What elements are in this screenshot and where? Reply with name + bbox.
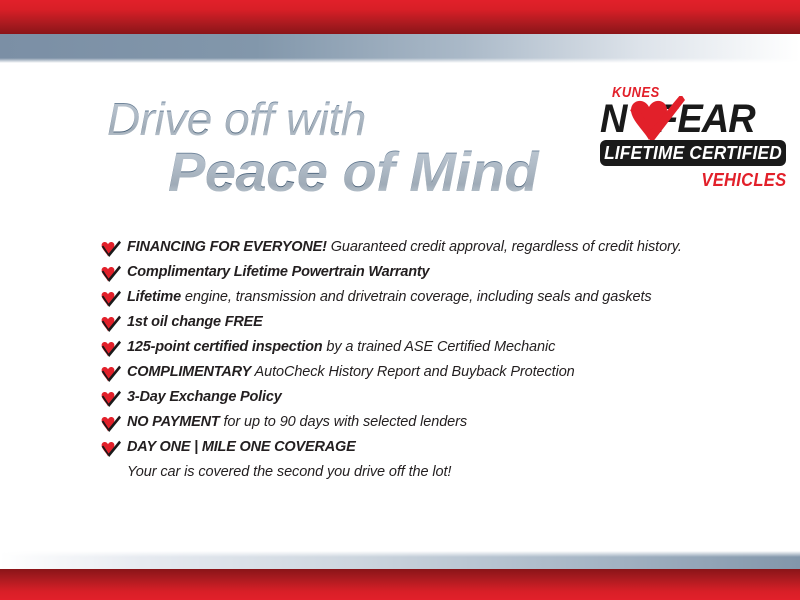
benefit-normal-text: by a trained ASE Certified Mechanic: [322, 339, 555, 355]
benefit-strong-text: 3-Day Exchange Policy: [127, 389, 282, 405]
red-heart-check-icon: [100, 265, 121, 282]
red-heart-check-icon: [100, 315, 121, 332]
benefit-item: 125-point certified inspection by a trai…: [100, 339, 740, 356]
benefit-item: COMPLIMENTARY AutoCheck History Report a…: [100, 364, 740, 381]
benefit-normal-text: for up to 90 days with selected lenders: [220, 414, 467, 430]
headline-line-1: Drive off with: [104, 96, 574, 142]
headline-line-2: Peace of Mind: [104, 144, 574, 200]
kunes-no-fear-logo: KUNES NOFEAR LIFETIME CERTIFIED VEHICLES: [596, 84, 788, 190]
logo-badge-label: LIFETIME CERTIFIED: [604, 140, 783, 166]
benefit-item: Lifetime engine, transmission and drivet…: [100, 289, 740, 306]
red-heart-check-icon: [100, 440, 121, 457]
benefit-item: DAY ONE | MILE ONE COVERAGE: [100, 439, 740, 456]
benefit-item: NO PAYMENT for up to 90 days with select…: [100, 414, 740, 431]
benefit-item: 1st oil change FREE: [100, 314, 740, 331]
red-heart-check-icon: [100, 415, 121, 432]
logo-wordmark-n: N: [600, 97, 626, 141]
top-red-bar: [0, 0, 800, 34]
benefit-item: FINANCING FOR EVERYONE! Guaranteed credi…: [100, 239, 740, 256]
benefit-subtext: Your car is covered the second you drive…: [100, 464, 740, 481]
benefit-normal-text: Guaranteed credit approval, regardless o…: [327, 239, 682, 255]
logo-vehicles-label: VEHICLES: [701, 170, 786, 191]
red-heart-check-icon: [100, 390, 121, 407]
logo-lifetime-certified-badge: LIFETIME CERTIFIED: [600, 140, 786, 166]
bottom-gray-bar: [0, 551, 800, 569]
red-heart-check-icon: [100, 340, 121, 357]
red-heart-check-icon: [100, 240, 121, 257]
red-heart-check-icon: [100, 365, 121, 382]
benefit-strong-text: 1st oil change FREE: [127, 314, 263, 330]
red-heart-check-icon: [100, 290, 121, 307]
benefits-list: FINANCING FOR EVERYONE! Guaranteed credi…: [100, 239, 740, 481]
headline-block: Drive off with Peace of Mind: [104, 96, 574, 200]
benefit-strong-text: FINANCING FOR EVERYONE!: [127, 239, 327, 255]
benefit-normal-text: engine, transmission and drivetrain cove…: [181, 289, 652, 305]
benefit-normal-text: AutoCheck History Report and Buyback Pro…: [251, 364, 575, 380]
benefit-item: 3-Day Exchange Policy: [100, 389, 740, 406]
red-checkmark-icon: [627, 96, 685, 146]
benefit-strong-text: COMPLIMENTARY: [127, 364, 251, 380]
benefit-strong-text: 125-point certified inspection: [127, 339, 322, 355]
promo-banner: Drive off with Peace of Mind KUNES NOFEA…: [0, 0, 800, 600]
bottom-red-bar: [0, 569, 800, 600]
benefit-strong-text: Lifetime: [127, 289, 181, 305]
logo-wordmark-no-fear: NOFEAR: [600, 98, 788, 140]
benefit-item: Complimentary Lifetime Powertrain Warran…: [100, 264, 740, 281]
benefit-strong-text: NO PAYMENT: [127, 414, 220, 430]
benefit-strong-text: DAY ONE | MILE ONE COVERAGE: [127, 439, 356, 455]
top-gray-bar: [0, 34, 800, 63]
benefit-strong-text: Complimentary Lifetime Powertrain Warran…: [127, 264, 429, 280]
